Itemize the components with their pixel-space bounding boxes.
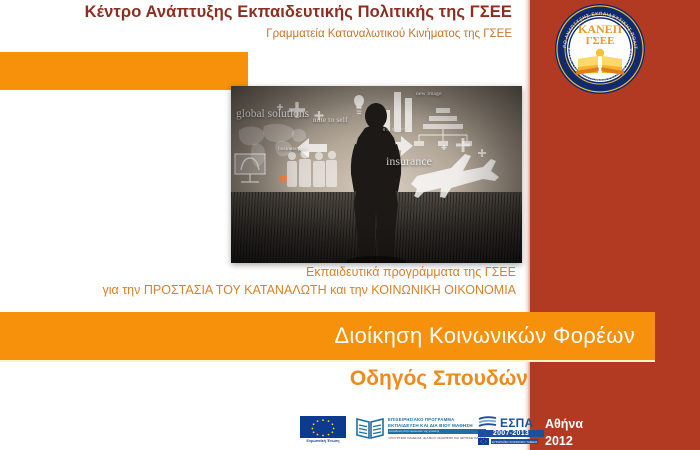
caption-line-2: για την ΠΡΟΣΤΑΣΙΑ ΤΟΥ ΚΑΤΑΝΑΛΩΤΗ και την… <box>0 282 516 299</box>
footer-logo-strip: Ευρωπαϊκή Ένωση ΕΠΙΧΕΙΡΗΣΙΑΚΟ ΠΡΟΓΡΑΜΜΑ … <box>300 416 544 450</box>
header: Κέντρο Ανάπτυξης Εκπαιδευτικής Πολιτικής… <box>0 2 520 41</box>
epeaek-line-1: ΕΠΙΧΕΙΡΗΣΙΑΚΟ ΠΡΟΓΡΑΜΜΑ <box>388 417 486 422</box>
orange-accent-block <box>0 52 248 90</box>
publication-place-year: Αθήνα 2012 <box>545 416 583 450</box>
caption-line-1: Εκπαιδευτικά προγράμματα της ΓΣΕΕ <box>0 264 516 281</box>
epeaek-programme-logo: ΕΠΙΧΕΙΡΗΣΙΑΚΟ ΠΡΟΓΡΑΜΜΑ ΕΚΠΑΙΔΕΥΣΗ ΚΑΙ Δ… <box>355 416 469 440</box>
open-book-icon <box>355 416 385 440</box>
kanep-gsee-seal-icon: ΚΕΝΤΡΟ ΑΝΑΠΤΥΞΗΣ ΕΚΠΑΙΔΕΥΤΙΚΗΣ ΠΟΛΙΤΙΚΗΣ… <box>552 1 648 97</box>
document-subtitle: Οδηγός Σπουδών <box>0 367 540 391</box>
publication-year: 2012 <box>545 433 583 450</box>
espa-wave-icon <box>478 416 498 429</box>
espa-years: 2007-2013 <box>478 430 544 437</box>
photo-vignette <box>231 86 522 263</box>
department-subtitle: Γραμματεία Καταναλωτικού Κινήματος της Γ… <box>0 27 512 41</box>
epeaek-text-lines: ΕΠΙΧΕΙΡΗΣΙΑΚΟ ΠΡΟΓΡΑΜΜΑ ΕΚΠΑΙΔΕΥΣΗ ΚΑΙ Δ… <box>388 416 486 440</box>
espa-logo: ΕΣΠΑ 2007-2013 ΕΥΡΩΠΑΪΚΟ ΚΟΙΝΩΝΙΚΟ ΤΑΜΕΙ… <box>478 416 544 445</box>
epeaek-line-2: ΕΚΠΑΙΔΕΥΣΗ ΚΑΙ ΔΙΑ ΒΙΟΥ ΜΑΘΗΣΗ <box>388 423 486 428</box>
espa-wordmark: ΕΣΠΑ <box>500 417 533 429</box>
organisation-title: Κέντρο Ανάπτυξης Εκπαιδευτικής Πολιτικής… <box>0 2 512 23</box>
espa-logo-top: ΕΣΠΑ <box>478 416 544 429</box>
eu-flag-caption: Ευρωπαϊκή Ένωση <box>300 440 346 444</box>
epeaek-line-4: ΥΠΟΥΡΓΕΙΟ ΠΑΙΔΕΙΑΣ, ΔΙΑ ΒΙΟΥ ΜΑΘΗΣΗΣ ΚΑΙ… <box>388 436 486 440</box>
publication-place: Αθήνα <box>545 416 583 433</box>
espa-eu-mini-flag-icon <box>478 438 489 445</box>
epeaek-line-3: επένδυση στην κοινωνία της γνώσης <box>388 429 486 434</box>
espa-footnote-row: ΕΥΡΩΠΑΪΚΟ ΚΟΙΝΩΝΙΚΟ ΤΑΜΕΙΟ <box>478 438 544 445</box>
eu-flag-graphic <box>300 416 346 438</box>
document-title: Διοίκηση Κοινωνικών Φορέων <box>334 323 635 349</box>
document-cover-page: Κέντρο Ανάπτυξης Εκπαιδευτικής Πολιτικής… <box>0 0 700 450</box>
programme-caption: Εκπαιδευτικά προγράμματα της ΓΣΕΕ για τη… <box>0 264 524 299</box>
svg-text:ΚΑΝΕΠ: ΚΑΝΕΠ <box>578 22 623 36</box>
title-banner: Διοίκηση Κοινωνικών Φορέων <box>0 312 655 362</box>
cover-photo: global solutions note to self insurance … <box>231 86 522 263</box>
svg-text:ΓΣΕΕ: ΓΣΕΕ <box>586 35 615 47</box>
espa-footnote-text: ΕΥΡΩΠΑΪΚΟ ΚΟΙΝΩΝΙΚΟ ΤΑΜΕΙΟ <box>491 439 538 444</box>
european-union-flag-icon: Ευρωπαϊκή Ένωση <box>300 416 346 443</box>
